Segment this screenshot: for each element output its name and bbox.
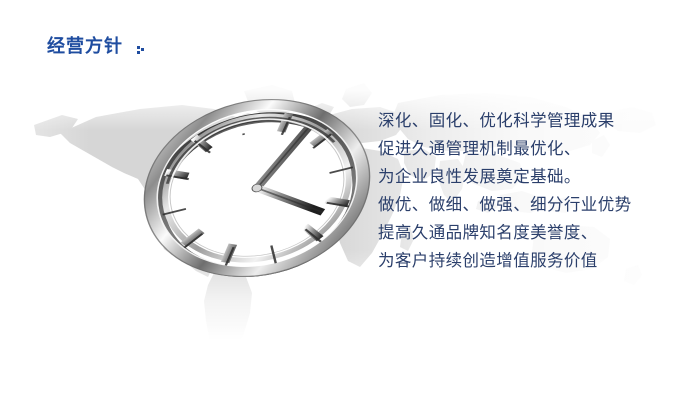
policy-line-5: 提高久通品牌知名度美誉度、 xyxy=(378,219,668,247)
policy-line-4: 做优、做细、做强、细分行业优势 xyxy=(378,191,668,219)
slide-canvas: 经营方针 深化、固化、优化科学管理成果 促进久通管理机制最优化、 为企业良性发展… xyxy=(0,0,676,400)
page-title-text: 经营方针 xyxy=(47,35,123,57)
policy-line-2: 促进久通管理机制最优化、 xyxy=(378,135,668,163)
chevron-bullet-icon xyxy=(137,42,145,52)
policy-line-6: 为客户持续创造增值服务价值 xyxy=(378,247,668,275)
policy-line-3: 为企业良性发展奠定基础。 xyxy=(378,163,668,191)
page-title: 经营方针 xyxy=(47,35,145,57)
policy-text-block: 深化、固化、优化科学管理成果 促进久通管理机制最优化、 为企业良性发展奠定基础。… xyxy=(378,107,668,275)
tilted-clock-graphic xyxy=(132,88,382,288)
clock-hands xyxy=(241,126,331,227)
policy-line-1: 深化、固化、优化科学管理成果 xyxy=(378,107,668,135)
